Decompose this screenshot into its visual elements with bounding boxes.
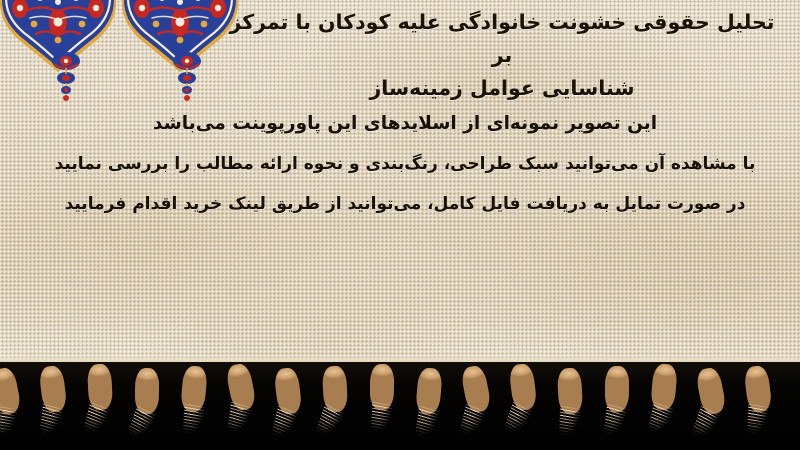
fringe-tassel — [597, 362, 643, 450]
fringe-tassel — [644, 360, 690, 450]
medallion-pendant-left — [44, 50, 88, 102]
fringe-tassel — [738, 362, 784, 450]
tassel-strands — [497, 402, 541, 450]
fringe-tassel — [80, 360, 126, 450]
fringe-tassel — [33, 362, 79, 450]
fringe-tassel — [456, 362, 502, 450]
fringe-tassel — [127, 364, 173, 450]
title-line-2: شناسایی عوامل زمینه‌ساز — [216, 72, 788, 105]
tassel-strands — [413, 406, 449, 450]
fringe-tassel — [550, 364, 596, 450]
tassel-strands — [370, 402, 402, 449]
fringe-tassel — [268, 364, 314, 450]
tassel-strands — [746, 404, 778, 450]
tassel-strands — [601, 404, 637, 450]
fringe-tassel — [691, 364, 737, 450]
fringe-tassel — [174, 362, 220, 450]
tassel-strands — [0, 406, 26, 450]
slide-title: تحلیل حقوقی خشونت خانوادگی علیه کودکان ب… — [216, 6, 788, 105]
body-line-1: این تصویر نمونه‌ای از اسلایدهای این پاور… — [40, 104, 770, 144]
tassel-strands — [37, 404, 73, 450]
slide-body: این تصویر نمونه‌ای از اسلایدهای این پاور… — [40, 104, 770, 224]
medallion-pendant-right — [165, 50, 209, 102]
body-line-2: با مشاهده آن می‌توانید سبک طراحی، رنگ‌بن… — [40, 144, 770, 184]
fringe-tassel — [409, 364, 455, 450]
tassel-strands — [79, 402, 119, 450]
tassel-strands — [558, 406, 590, 450]
tassel-strands — [455, 404, 495, 450]
fringe-tassel — [503, 360, 549, 450]
tassel-strands — [309, 404, 353, 450]
slide-canvas: تحلیل حقوقی خشونت خانوادگی علیه کودکان ب… — [0, 0, 800, 450]
tassel-strands — [643, 402, 683, 450]
body-line-3: در صورت تمایل به دریافت فایل کامل، می‌تو… — [40, 184, 770, 224]
fringe-tassel — [362, 360, 408, 450]
tassel-strands — [182, 404, 214, 450]
fringe-tassel — [221, 360, 267, 450]
fringe-tassel — [315, 362, 361, 450]
tassel-strands — [225, 402, 261, 450]
fringe-tassel-row — [0, 358, 800, 450]
tassel-strands — [685, 406, 729, 450]
tassel-strands — [267, 406, 307, 450]
fringe-tassel — [0, 364, 32, 450]
tassel-strands — [121, 406, 165, 450]
title-line-1: تحلیل حقوقی خشونت خانوادگی علیه کودکان ب… — [216, 6, 788, 72]
